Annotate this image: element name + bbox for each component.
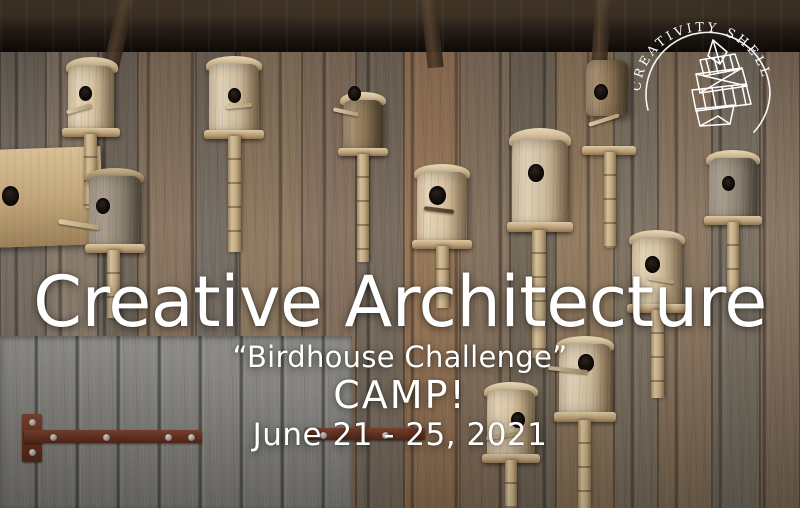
logo-arc-text: CREATIVITY SHELL — [634, 19, 775, 92]
page-title: Creative Architecture — [0, 268, 800, 337]
creativity-shell-logo[interactable]: CREATIVITY SHELL — [634, 6, 786, 152]
poster-canvas: CREATIVITY SHELL — [0, 0, 800, 508]
subtitle: “Birdhouse Challenge” — [0, 343, 800, 372]
logo-svg: CREATIVITY SHELL — [634, 6, 786, 152]
date-range: June 21 - 25, 2021 — [0, 420, 800, 451]
poster-text-block: Creative Architecture “Birdhouse Challen… — [0, 268, 800, 451]
board-hole — [2, 186, 19, 206]
camp-label: CAMP! — [0, 376, 800, 414]
logo-arc-ring-lower — [754, 94, 770, 132]
spiral-shell-mark — [692, 40, 751, 126]
